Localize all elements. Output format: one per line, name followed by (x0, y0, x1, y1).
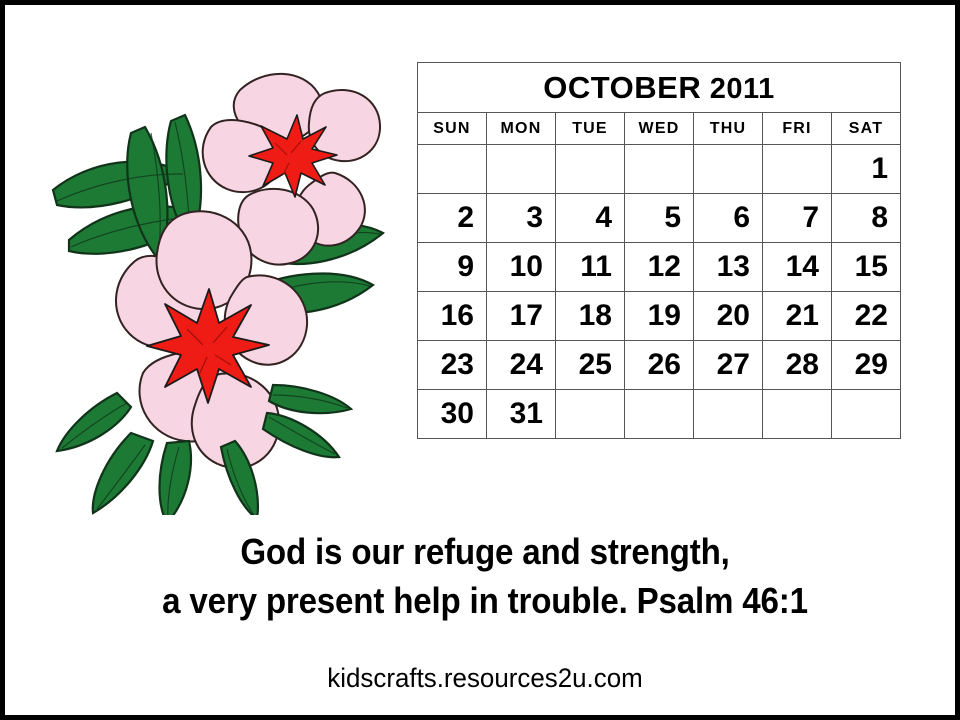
day-cell[interactable] (556, 145, 625, 194)
day-cell[interactable]: 17 (487, 292, 556, 341)
day-cell[interactable]: 7 (763, 194, 832, 243)
day-cell[interactable] (556, 390, 625, 439)
day-cell[interactable]: 26 (625, 341, 694, 390)
calendar-week-row: 16 17 18 19 20 21 22 (418, 292, 901, 341)
weekday-header-fri: FRI (763, 113, 832, 145)
day-cell[interactable]: 14 (763, 243, 832, 292)
day-cell[interactable] (763, 390, 832, 439)
day-cell[interactable]: 29 (832, 341, 901, 390)
day-cell[interactable]: 23 (418, 341, 487, 390)
day-cell[interactable]: 28 (763, 341, 832, 390)
day-cell[interactable]: 15 (832, 243, 901, 292)
day-cell[interactable]: 12 (625, 243, 694, 292)
day-cell[interactable]: 11 (556, 243, 625, 292)
day-cell[interactable]: 21 (763, 292, 832, 341)
day-cell[interactable]: 1 (832, 145, 901, 194)
day-cell[interactable]: 2 (418, 194, 487, 243)
calendar-page: OCTOBER 2011 SUN MON TUE WED THU FRI SAT… (0, 0, 960, 720)
day-cell[interactable]: 18 (556, 292, 625, 341)
calendar-year-value: 2011 (710, 73, 775, 105)
day-cell[interactable] (625, 145, 694, 194)
weekday-header-wed: WED (625, 113, 694, 145)
day-cell[interactable] (763, 145, 832, 194)
day-cell[interactable]: 16 (418, 292, 487, 341)
calendar-year-label (701, 73, 710, 105)
flower-illustration (35, 55, 395, 515)
day-cell[interactable] (487, 145, 556, 194)
calendar-title-row: OCTOBER 2011 (418, 63, 901, 113)
day-cell[interactable]: 13 (694, 243, 763, 292)
weekday-header-tue: TUE (556, 113, 625, 145)
day-cell[interactable] (418, 145, 487, 194)
day-cell[interactable]: 6 (694, 194, 763, 243)
day-cell[interactable]: 5 (625, 194, 694, 243)
day-cell[interactable]: 22 (832, 292, 901, 341)
day-cell[interactable]: 31 (487, 390, 556, 439)
day-cell[interactable]: 8 (832, 194, 901, 243)
website-url: kidscrafts.resources2u.com (24, 663, 946, 694)
day-cell[interactable] (625, 390, 694, 439)
scripture-verse: God is our refuge and strength, a very p… (43, 528, 926, 626)
flower-middle-center (147, 289, 269, 403)
weekday-header-mon: MON (487, 113, 556, 145)
day-cell[interactable] (832, 390, 901, 439)
day-cell[interactable]: 25 (556, 341, 625, 390)
calendar-week-row: 23 24 25 26 27 28 29 (418, 341, 901, 390)
calendar-week-row: 30 31 (418, 390, 901, 439)
calendar-table: OCTOBER 2011 SUN MON TUE WED THU FRI SAT… (417, 62, 901, 439)
day-cell[interactable]: 9 (418, 243, 487, 292)
day-cell[interactable]: 20 (694, 292, 763, 341)
weekday-header-thu: THU (694, 113, 763, 145)
day-cell[interactable]: 3 (487, 194, 556, 243)
calendar-week-row: 2 3 4 5 6 7 8 (418, 194, 901, 243)
day-cell[interactable] (694, 145, 763, 194)
day-cell[interactable]: 27 (694, 341, 763, 390)
day-cell[interactable]: 30 (418, 390, 487, 439)
verse-line-2: a very present help in trouble. Psalm 46… (43, 577, 926, 626)
day-cell[interactable]: 10 (487, 243, 556, 292)
day-cell[interactable]: 19 (625, 292, 694, 341)
weekday-header-sun: SUN (418, 113, 487, 145)
calendar-month-label: OCTOBER (543, 70, 701, 105)
weekday-header-sat: SAT (832, 113, 901, 145)
calendar-week-row: 9 10 11 12 13 14 15 (418, 243, 901, 292)
day-cell[interactable] (694, 390, 763, 439)
calendar-week-row: 1 (418, 145, 901, 194)
calendar-title: OCTOBER 2011 (418, 63, 901, 113)
day-cell[interactable]: 24 (487, 341, 556, 390)
weekday-header-row: SUN MON TUE WED THU FRI SAT (418, 113, 901, 145)
day-cell[interactable]: 4 (556, 194, 625, 243)
verse-line-1: God is our refuge and strength, (43, 528, 926, 577)
